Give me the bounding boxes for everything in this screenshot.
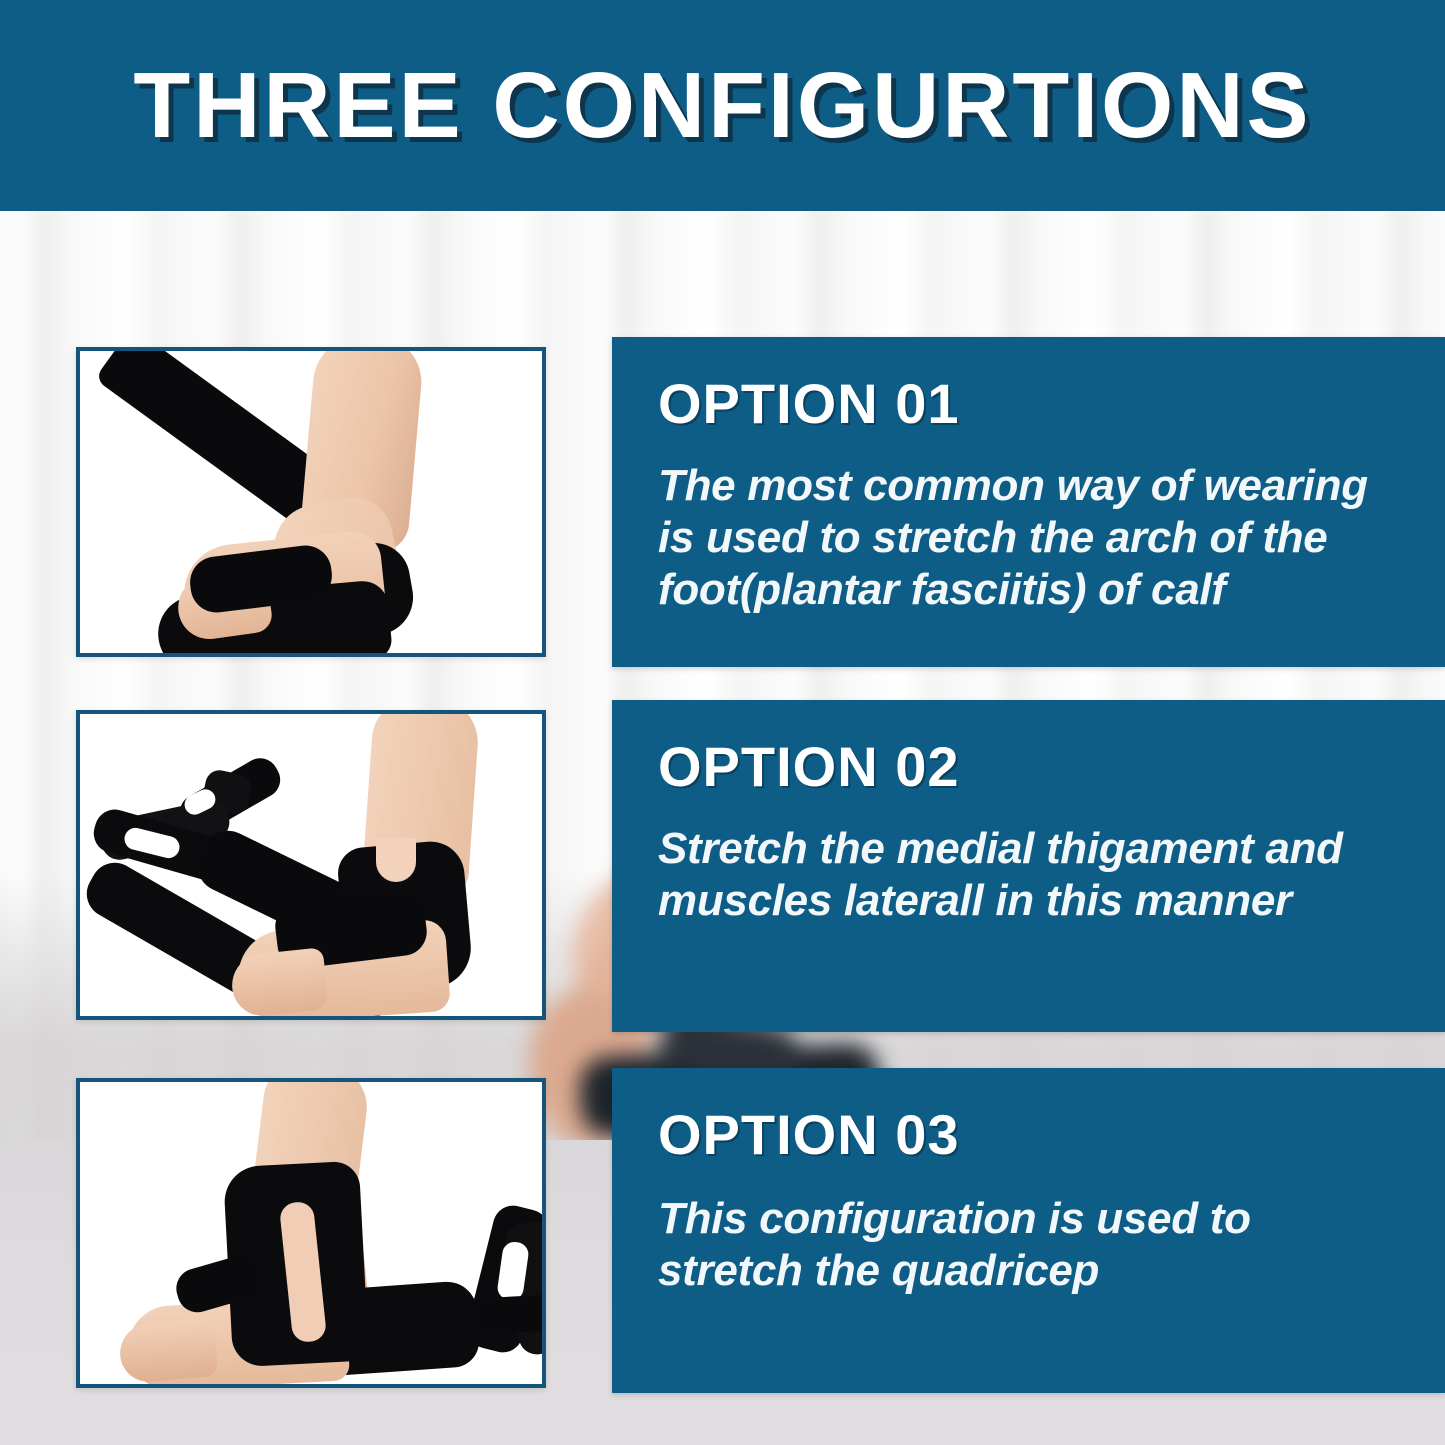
option-title-2: OPTION 02 xyxy=(658,738,1399,797)
option-description-3: This configuration is used to stretch th… xyxy=(658,1193,1399,1297)
option-text-2: OPTION 02 Stretch the medial thigament a… xyxy=(612,700,1445,1032)
option-row-2: OPTION 02 Stretch the medial thigament a… xyxy=(0,700,1445,1032)
ankle-cuff-notch xyxy=(376,838,416,882)
option-row-1: OPTION 01 The most common way of wearing… xyxy=(0,337,1445,667)
photo-illustration-3 xyxy=(80,1082,542,1384)
photo-illustration-2 xyxy=(80,714,542,1016)
strap-diagonal xyxy=(94,347,334,526)
infographic-page: THREE CONFIGURTIONS OPTION 01 The most c… xyxy=(0,0,1445,1445)
photo-illustration-1 xyxy=(80,351,542,653)
header-banner: THREE CONFIGURTIONS xyxy=(0,0,1445,211)
option-photo-2 xyxy=(76,710,546,1020)
option-photo-1 xyxy=(76,347,546,657)
option-description-2: Stretch the medial thigament and muscles… xyxy=(658,823,1399,927)
option-text-3: OPTION 03 This configuration is used to … xyxy=(612,1068,1445,1393)
option-text-1: OPTION 01 The most common way of wearing… xyxy=(612,337,1445,667)
option-title-3: OPTION 03 xyxy=(658,1106,1399,1165)
option-description-1: The most common way of wearing is used t… xyxy=(658,460,1399,616)
page-title: THREE CONFIGURTIONS xyxy=(133,59,1311,152)
toes xyxy=(118,1318,219,1384)
option-title-1: OPTION 01 xyxy=(658,375,1399,434)
option-photo-3 xyxy=(76,1078,546,1388)
option-row-3: OPTION 03 This configuration is used to … xyxy=(0,1068,1445,1393)
